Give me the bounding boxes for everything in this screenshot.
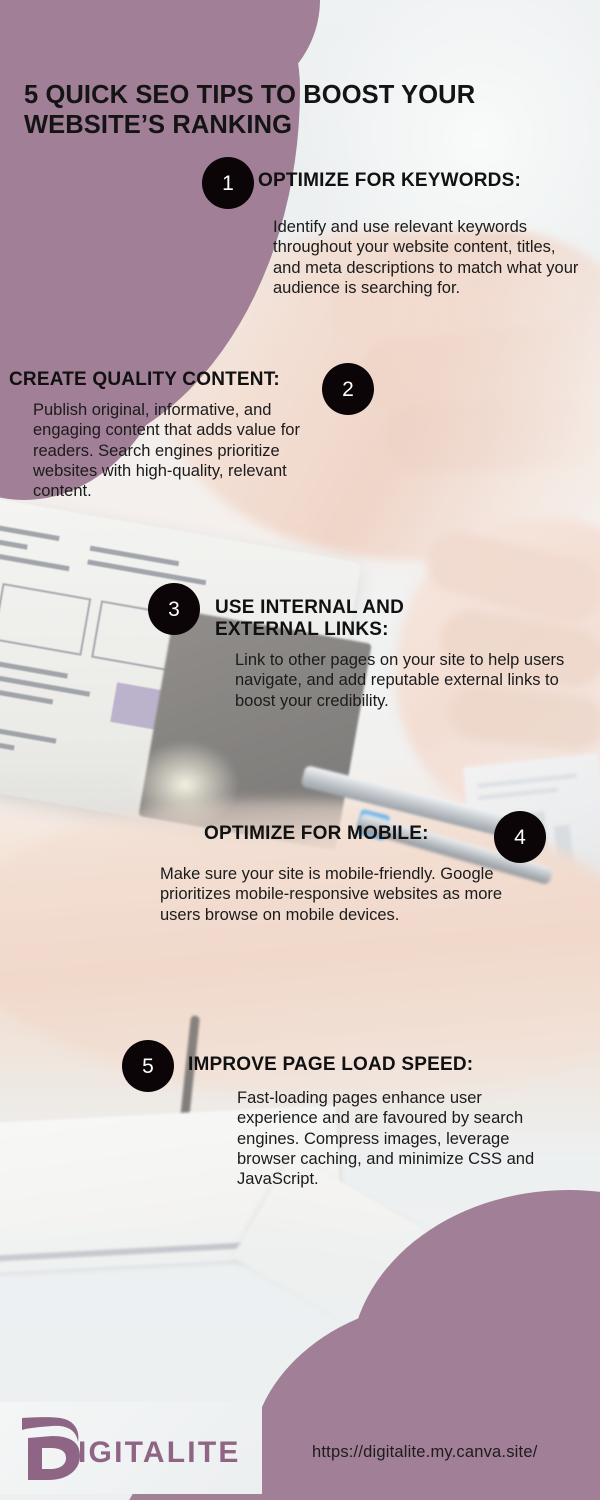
tip-body-5: Fast-loading pages enhance user experien… <box>237 1088 567 1189</box>
tip-body-2: Publish original, informative, and engag… <box>33 400 323 501</box>
tip-heading-2: CREATE QUALITY CONTENT: <box>9 369 329 391</box>
tip-number-badge-3: 3 <box>148 583 200 635</box>
page-title: 5 QUICK SEO TIPS TO BOOST YOUR WEBSITE’S… <box>24 80 544 140</box>
tip-heading-4: OPTIMIZE FOR MOBILE: <box>204 823 504 845</box>
tip-heading-3: USE INTERNAL AND EXTERNAL LINKS: <box>215 597 515 641</box>
tip-body-1: Identify and use relevant keywords throu… <box>273 217 585 298</box>
website-url[interactable]: https://digitalite.my.canva.site/ <box>312 1443 537 1462</box>
infographic-canvas: 5 QUICK SEO TIPS TO BOOST YOUR WEBSITE’S… <box>0 0 600 1500</box>
tip-number-badge-5: 5 <box>122 1040 174 1092</box>
content-layer: 5 QUICK SEO TIPS TO BOOST YOUR WEBSITE’S… <box>0 0 600 1500</box>
brand-wordmark: IGITALITE <box>78 1436 241 1470</box>
tip-number-badge-2: 2 <box>322 363 374 415</box>
tip-body-4: Make sure your site is mobile-friendly. … <box>160 864 510 925</box>
tip-body-3: Link to other pages on your site to help… <box>235 650 585 711</box>
tip-number-badge-1: 1 <box>202 157 254 209</box>
tip-heading-1: OPTIMIZE FOR KEYWORDS: <box>258 170 588 192</box>
tip-heading-5: IMPROVE PAGE LOAD SPEED: <box>188 1054 528 1076</box>
